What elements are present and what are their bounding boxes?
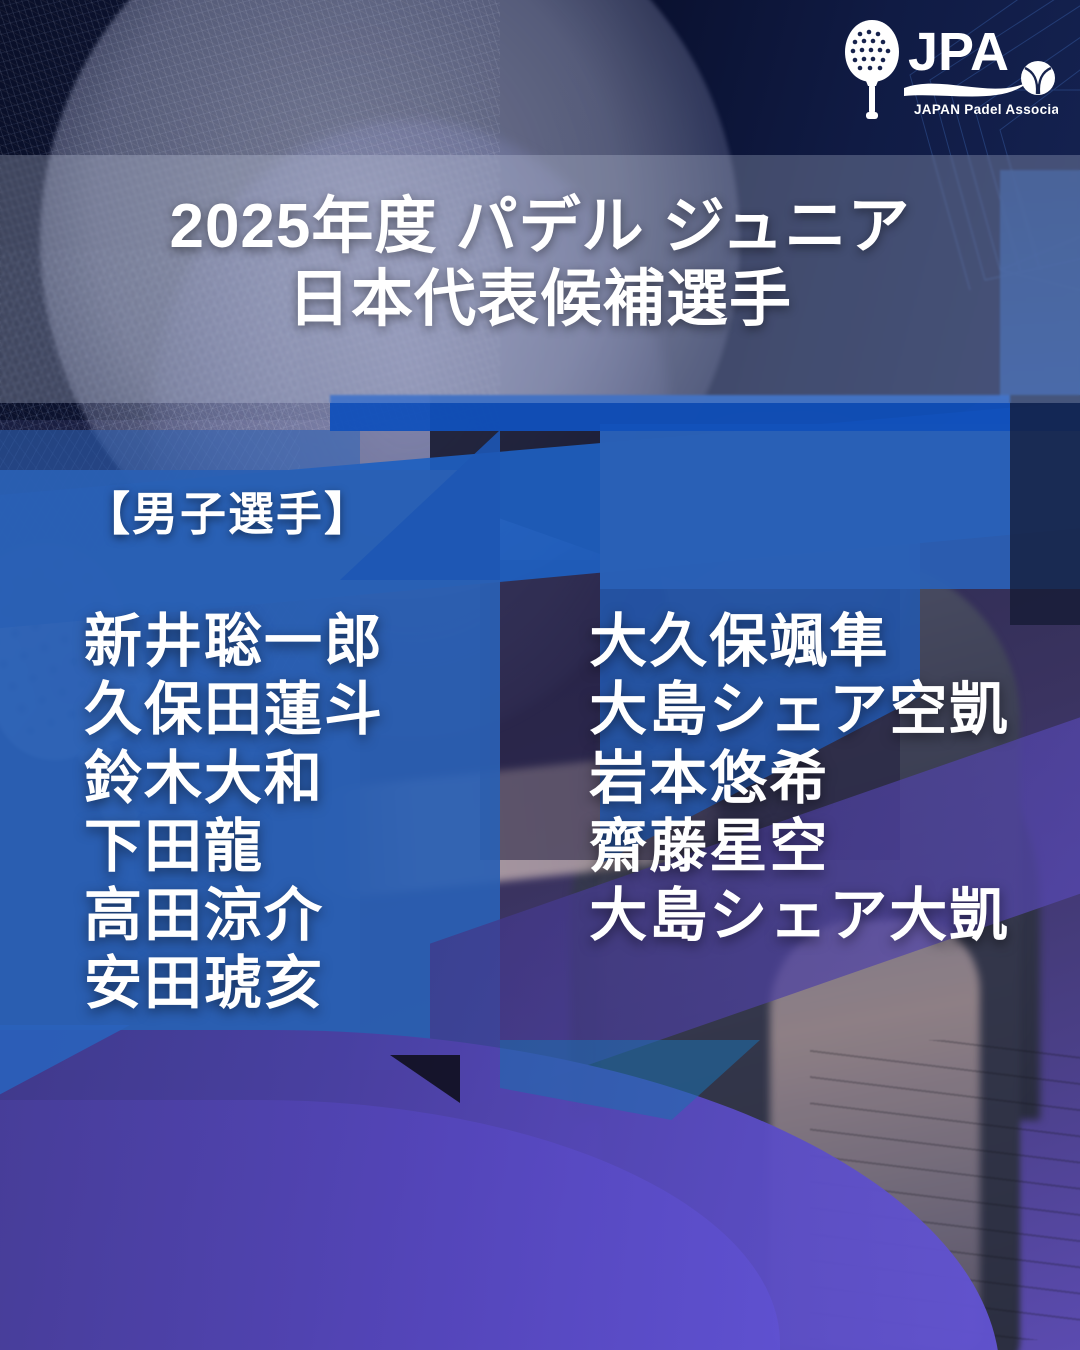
player-name: 鈴木大和 xyxy=(84,745,509,813)
padel-racket-logo-mark xyxy=(845,20,899,119)
player-name: 齋藤星空 xyxy=(589,813,1064,881)
shape-blue-panel-right xyxy=(600,424,1080,589)
shape-dark-right-column xyxy=(1010,395,1080,625)
player-name: 大島シェア大凱 xyxy=(589,882,1064,950)
title-line-1: 2025年度 パデル ジュニア xyxy=(0,190,1080,263)
player-name: 下田龍 xyxy=(84,813,509,881)
player-name: 安田琥亥 xyxy=(84,950,509,1018)
player-name: 大久保颯隼 xyxy=(589,608,1064,676)
page-title: 2025年度 パデル ジュニア 日本代表候補選手 xyxy=(0,190,1080,336)
player-name: 新井聡一郎 xyxy=(84,608,509,676)
logo-swoosh xyxy=(904,82,1028,97)
player-column-left: 新井聡一郎 久保田蓮斗 鈴木大和 下田龍 高田涼介 安田琥亥 xyxy=(84,608,509,1019)
player-name-list: 新井聡一郎 久保田蓮斗 鈴木大和 下田龍 高田涼介 安田琥亥 大久保颯隼 大島シ… xyxy=(84,608,1064,1019)
section-heading-mens: 【男子選手】 xyxy=(84,478,372,544)
player-name: 久保田蓮斗 xyxy=(84,676,509,744)
player-column-right: 大久保颯隼 大島シェア空凱 岩本悠希 齋藤星空 大島シェア大凱 xyxy=(589,608,1064,1019)
title-line-2: 日本代表候補選手 xyxy=(0,263,1080,336)
player-name: 大島シェア空凱 xyxy=(589,676,1064,744)
poster-canvas: JPA JAPAN Padel Association 2025年度 パデル ジ… xyxy=(0,0,1080,1350)
player-name: 岩本悠希 xyxy=(589,745,1064,813)
logo-subtitle: JAPAN Padel Association xyxy=(914,102,1058,117)
jpa-logo: JPA JAPAN Padel Association xyxy=(842,14,1058,126)
jpa-initials: JPA xyxy=(908,22,1009,82)
tennis-ball-icon xyxy=(1021,61,1055,95)
player-name: 高田涼介 xyxy=(84,882,509,950)
